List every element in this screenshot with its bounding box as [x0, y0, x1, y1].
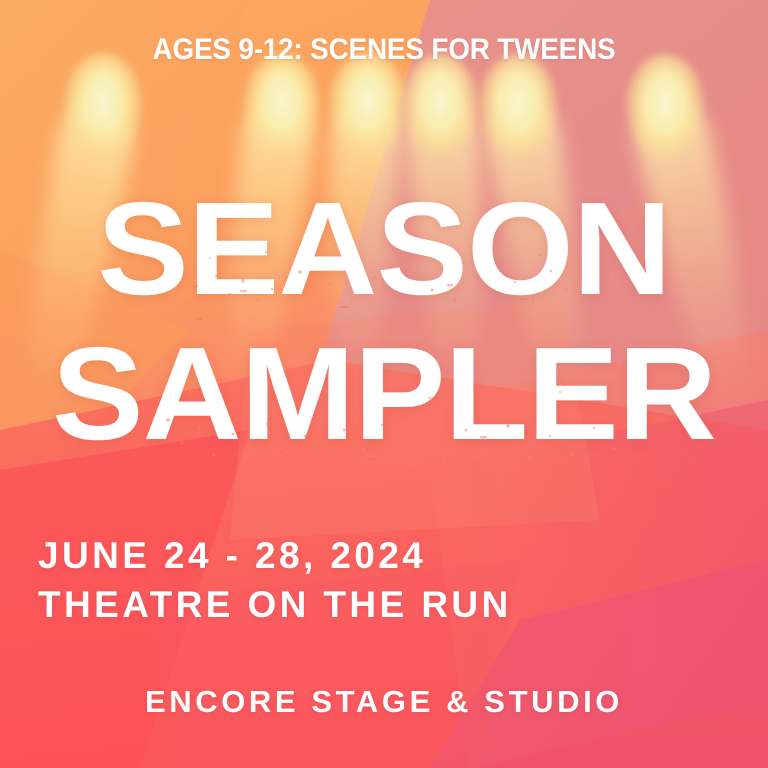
light-core-2	[265, 77, 299, 131]
light-core-1	[85, 77, 121, 133]
event-details: JUNE 24 - 28, 2024 THEATRE ON THE RUN	[38, 532, 512, 630]
event-venue: THEATRE ON THE RUN	[38, 581, 512, 630]
poster-title: SEASON SAMPLER	[0, 188, 768, 455]
light-core-3	[350, 76, 386, 131]
title-line-season: SEASON	[0, 188, 768, 309]
organization-name: ENCORE STAGE & STUDIO	[0, 684, 768, 720]
light-core-4	[423, 77, 457, 131]
age-range-kicker: AGES 9-12: SCENES FOR TWEENS	[27, 33, 741, 67]
event-poster: AGES 9-12: SCENES FOR TWEENS SEASON SAMP…	[0, 0, 768, 768]
event-date: JUNE 24 - 28, 2024	[38, 532, 512, 581]
light-core-5	[500, 78, 536, 133]
title-line-sampler: SAMPLER	[0, 333, 768, 454]
light-core-6	[647, 78, 683, 134]
